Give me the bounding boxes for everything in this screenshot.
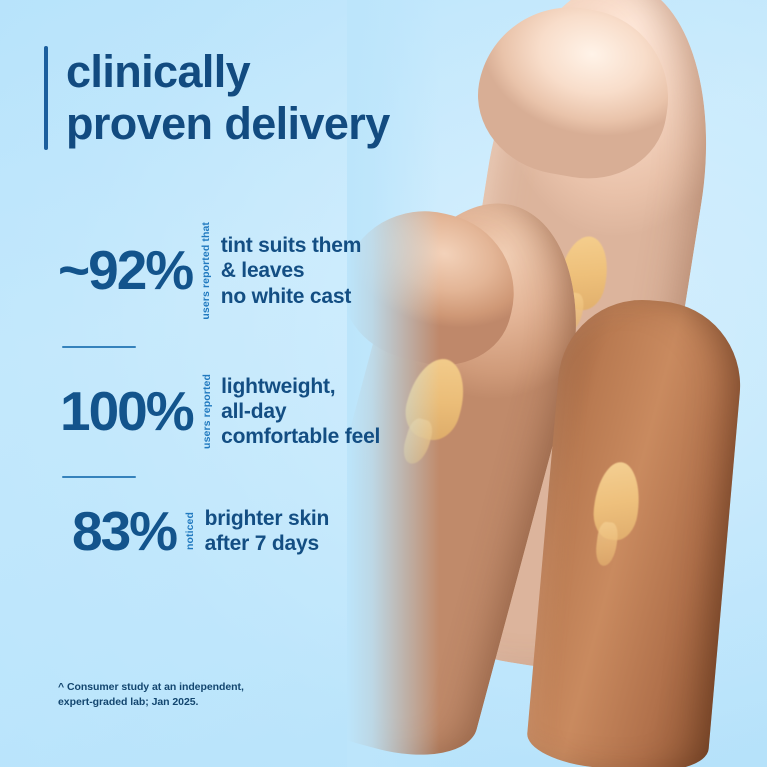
stat-percent: 100% (60, 384, 193, 439)
footnote: ^ Consumer study at an independent, expe… (58, 680, 244, 710)
stat-vertical-label: noticed (185, 512, 196, 550)
poster-content: clinically proven delivery ~92% users re… (0, 0, 767, 767)
stat-percent: ~92% (58, 243, 192, 298)
stat-item: 83% noticed brighter skin after 7 days (72, 504, 478, 559)
page-title: clinically proven delivery (66, 46, 390, 150)
stat-percent: 83% (72, 504, 176, 559)
headline-block: clinically proven delivery (44, 46, 390, 150)
accent-bar (44, 46, 48, 150)
stat-description: tint suits them & leaves no white cast (221, 233, 362, 309)
promo-poster: clinically proven delivery ~92% users re… (0, 0, 767, 767)
stat-description: lightweight, all-day comfortable feel (221, 374, 380, 450)
stat-item: ~92% users reported that tint suits them… (58, 222, 478, 320)
stat-description: brighter skin after 7 days (205, 506, 330, 557)
stat-vertical-label: users reported that (201, 222, 212, 320)
stat-divider (62, 476, 136, 478)
statistics-list: ~92% users reported that tint suits them… (58, 222, 478, 559)
stat-item: 100% users reported lightweight, all-day… (60, 374, 478, 450)
stat-divider (62, 346, 136, 348)
stat-vertical-label: users reported (202, 374, 213, 449)
